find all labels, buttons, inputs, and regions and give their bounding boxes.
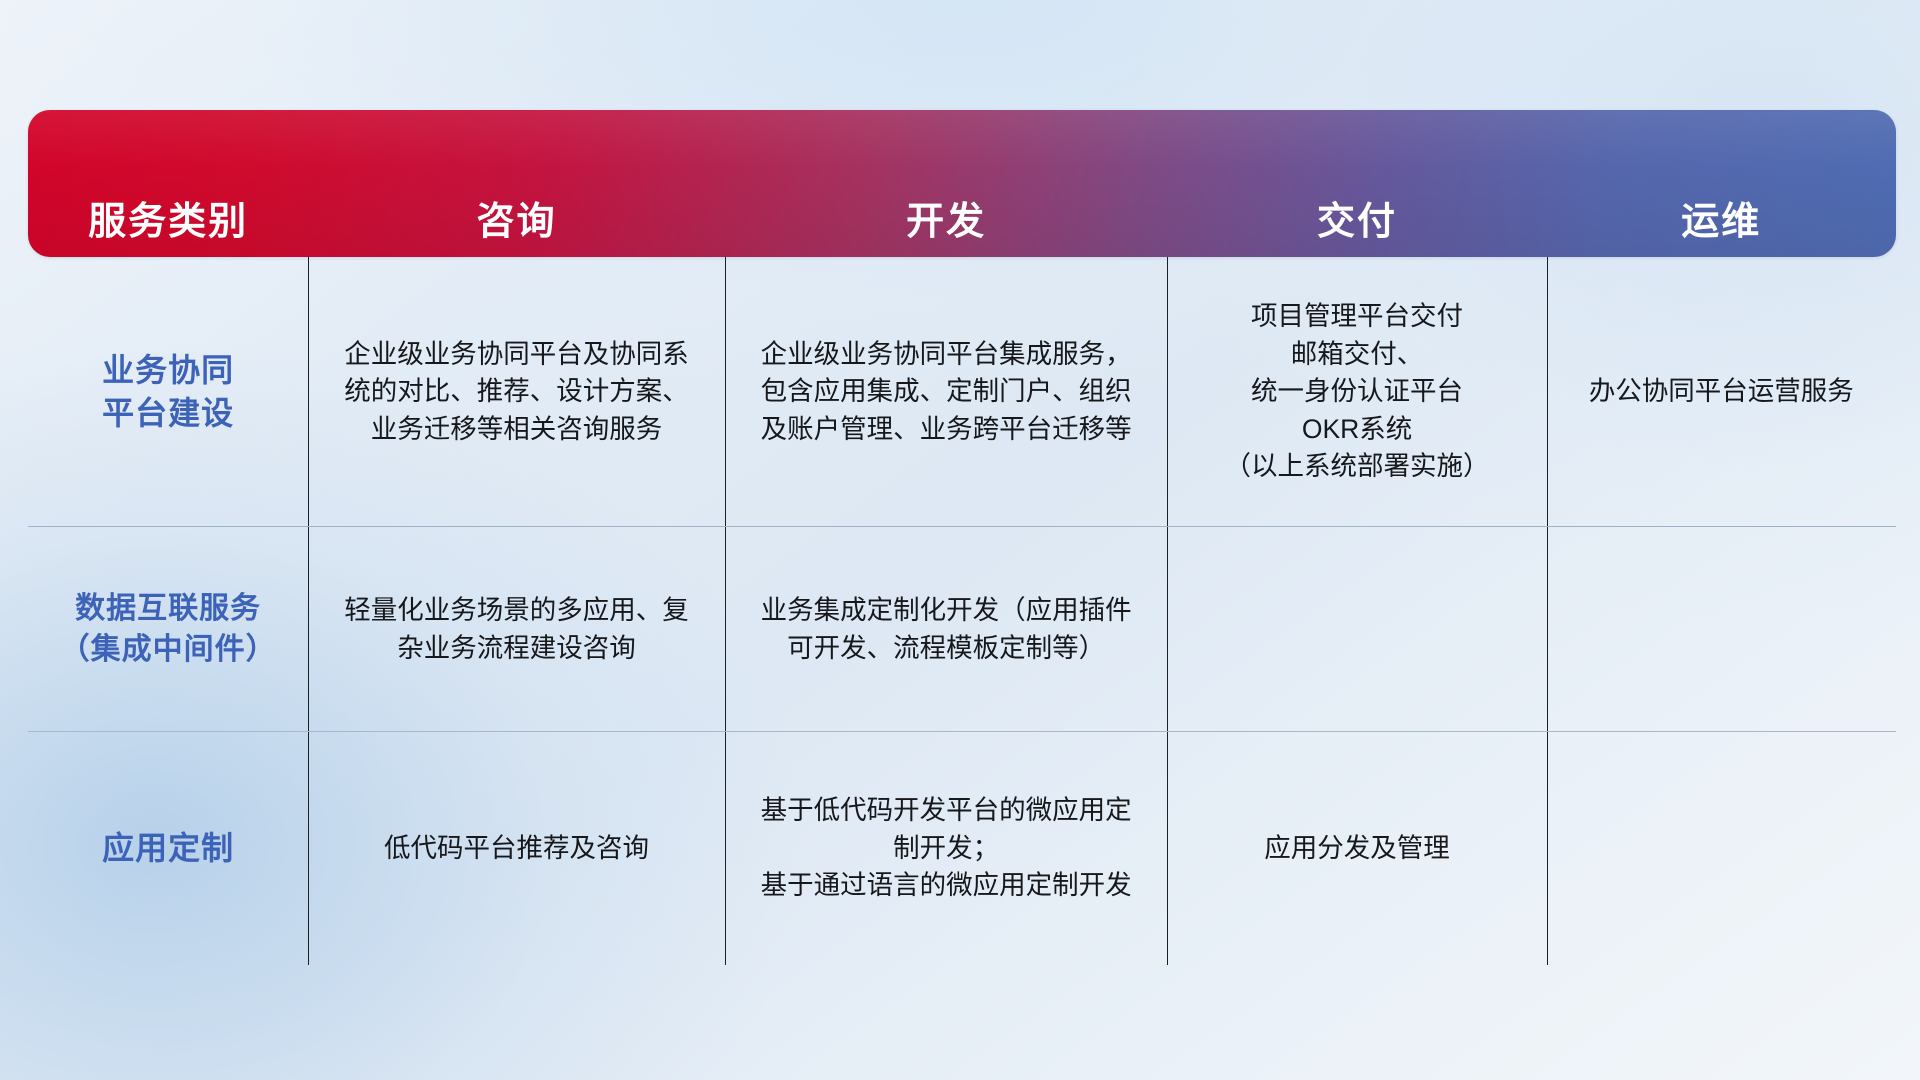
column-header-development[interactable]: 开发 [725, 203, 1168, 257]
page-root: 服务类别 咨询 开发 交付 运维 业务协同平台建设 企业级业务协同平台及协同系统… [0, 0, 1920, 1080]
grid-line-vertical-2 [725, 257, 726, 965]
cell-consulting: 低代码平台推荐及咨询 [308, 732, 725, 965]
cell-delivery: 项目管理平台交付邮箱交付、统一身份认证平台OKR系统（以上系统部署实施） [1167, 257, 1546, 527]
cell-operations [1547, 527, 1896, 732]
column-header-operations[interactable]: 运维 [1547, 203, 1896, 257]
grid-line-horizontal-2 [28, 731, 1896, 732]
column-header-delivery[interactable]: 交付 [1167, 203, 1546, 257]
row-category-label: 业务协同平台建设 [28, 257, 308, 527]
cell-delivery: 应用分发及管理 [1167, 732, 1546, 965]
cell-development: 业务集成定制化开发（应用插件可开发、流程模板定制等） [725, 527, 1168, 732]
cell-consulting: 轻量化业务场景的多应用、复杂业务流程建设咨询 [308, 527, 725, 732]
cell-operations [1547, 732, 1896, 965]
table-body: 业务协同平台建设 企业级业务协同平台及协同系统的对比、推荐、设计方案、业务迁移等… [28, 257, 1896, 965]
grid-line-vertical-1 [308, 257, 309, 965]
cell-consulting: 企业级业务协同平台及协同系统的对比、推荐、设计方案、业务迁移等相关咨询服务 [308, 257, 725, 527]
table-header-row: 服务类别 咨询 开发 交付 运维 [28, 110, 1896, 257]
row-category-label: 应用定制 [28, 732, 308, 965]
column-header-consulting[interactable]: 咨询 [308, 203, 725, 257]
row-category-label: 数据互联服务（集成中间件） [28, 527, 308, 732]
grid-line-vertical-3 [1167, 257, 1168, 965]
grid-line-horizontal-1 [28, 526, 1896, 527]
column-header-category[interactable]: 服务类别 [28, 203, 308, 257]
cell-development: 企业级业务协同平台集成服务，包含应用集成、定制门户、组织及账户管理、业务跨平台迁… [725, 257, 1168, 527]
service-matrix-table: 服务类别 咨询 开发 交付 运维 业务协同平台建设 企业级业务协同平台及协同系统… [28, 110, 1896, 965]
cell-operations: 办公协同平台运营服务 [1547, 257, 1896, 527]
cell-development: 基于低代码开发平台的微应用定制开发；基于通过语言的微应用定制开发 [725, 732, 1168, 965]
grid-line-vertical-4 [1547, 257, 1548, 965]
cell-delivery [1167, 527, 1546, 732]
